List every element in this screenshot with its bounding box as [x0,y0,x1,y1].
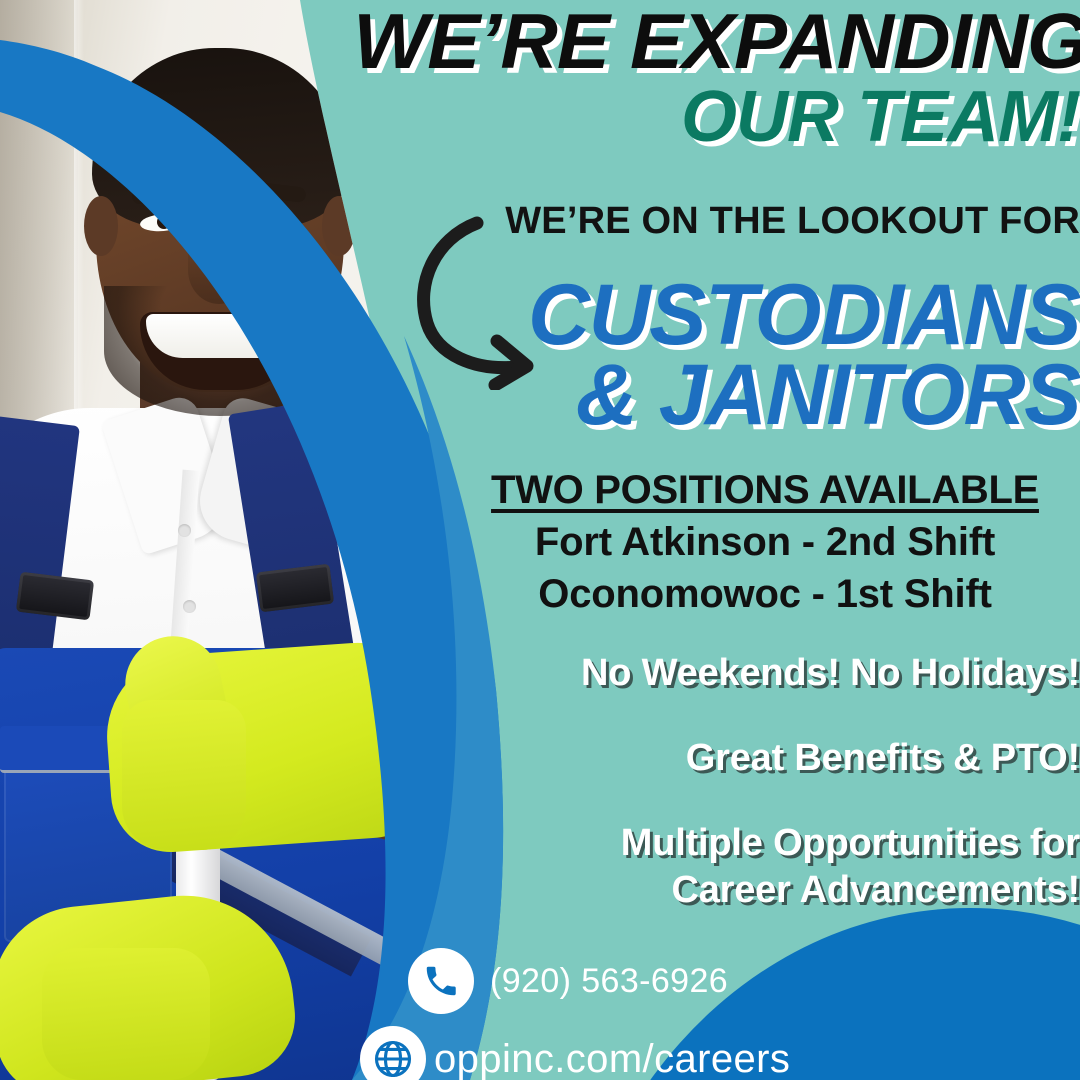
benefit-item-3: Multiple Opportunities for [440,822,1080,865]
pupil-left [157,215,171,229]
headline-block: WE’RE EXPANDING OUR TEAM! [290,6,1080,150]
positions-block: TWO POSITIONS AVAILABLE Fort Atkinson - … [450,468,1080,617]
headline-line-2: OUR TEAM! [290,84,1080,150]
ear-left [84,196,118,256]
job-title-line-1: CUSTODIANS [370,276,1080,356]
position-item-1: Fort Atkinson - 2nd Shift [450,520,1080,565]
benefit-item-2: Great Benefits & PTO! [440,737,1080,780]
job-title-block: CUSTODIANS & JANITORS [370,276,1080,436]
contact-phone-row[interactable]: (920) 563-6926 [408,948,1060,1014]
shirt-button-bottom [183,600,196,613]
subheading: WE’RE ON THE LOOKOUT FOR [450,200,1080,243]
globe-icon [360,1026,426,1080]
ear-right [322,196,356,256]
headline-line-1: WE’RE EXPANDING [282,6,1080,78]
glove-upper-fingers [122,700,246,850]
poster-content: WE’RE EXPANDING OUR TEAM! WE’RE ON THE L… [430,0,1080,1080]
position-item-2: Oconomowoc - 1st Shift [450,572,1080,617]
contact-block: (920) 563-6926 oppinc.com/careers [360,948,1060,1080]
recruitment-poster: WE’RE EXPANDING OUR TEAM! WE’RE ON THE L… [0,0,1080,1080]
person-figure [0,0,470,1080]
benefit-item-1: No Weekends! No Holidays! [440,652,1080,695]
phone-icon [408,948,474,1014]
pupil-right [264,214,278,228]
custodian-photo [0,0,470,1080]
glove-lower-fingers [42,948,210,1080]
teeth [146,314,296,358]
job-title-line-2: & JANITORS [370,356,1080,436]
benefits-block: No Weekends! No Holidays! Great Benefits… [440,652,1080,912]
website-url: oppinc.com/careers [434,1037,790,1080]
positions-heading: TWO POSITIONS AVAILABLE [450,468,1080,513]
contact-website-row[interactable]: oppinc.com/careers [360,1026,1060,1080]
benefit-item-4: Career Advancements! [440,869,1080,912]
shirt-button-top [178,524,191,537]
phone-number: (920) 563-6926 [490,962,728,1001]
